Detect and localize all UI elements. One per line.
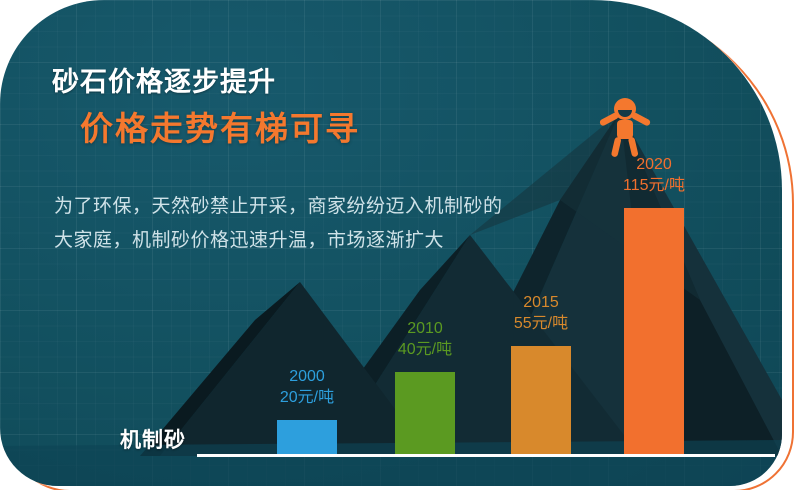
bar-caption-2020: 2020115元/吨	[590, 154, 718, 196]
bar-year-2015: 2015	[477, 292, 605, 313]
headline-secondary: 价格走势有梯可寻	[80, 102, 360, 150]
bar-caption-2010: 201040元/吨	[361, 318, 489, 360]
bar-caption-2015: 201555元/吨	[477, 292, 605, 334]
headline-primary: 砂石价格逐步提升	[52, 60, 276, 99]
bar-2020: 2020115元/吨	[624, 208, 684, 454]
bar-rect-2020	[624, 208, 684, 454]
bar-rect-2010	[395, 372, 455, 454]
bar-price-2000: 20元/吨	[243, 387, 371, 408]
bar-2015: 201555元/吨	[511, 346, 571, 454]
bar-year-2020: 2020	[590, 154, 718, 175]
bar-year-2000: 2000	[243, 366, 371, 387]
chart-baseline	[197, 454, 775, 457]
bar-price-2020: 115元/吨	[590, 175, 718, 196]
series-label: 机制砂	[120, 424, 186, 454]
body-paragraph: 为了环保，天然砂禁止开采，商家纷纷迈入机制砂的大家庭，机制砂价格迅速升温，市场逐…	[54, 190, 516, 258]
celebrating-person-icon	[596, 96, 654, 158]
bar-caption-2000: 200020元/吨	[243, 366, 371, 408]
bar-price-2010: 40元/吨	[361, 339, 489, 360]
poster-canvas: 砂石价格逐步提升 价格走势有梯可寻 为了环保，天然砂禁止开采，商家纷纷迈入机制砂…	[0, 0, 800, 490]
bar-2000: 200020元/吨	[277, 420, 337, 454]
bar-rect-2000	[277, 420, 337, 454]
bar-price-2015: 55元/吨	[477, 313, 605, 334]
bar-2010: 201040元/吨	[395, 372, 455, 454]
bar-rect-2015	[511, 346, 571, 454]
bar-year-2010: 2010	[361, 318, 489, 339]
poster-panel: 砂石价格逐步提升 价格走势有梯可寻 为了环保，天然砂禁止开采，商家纷纷迈入机制砂…	[0, 0, 782, 486]
